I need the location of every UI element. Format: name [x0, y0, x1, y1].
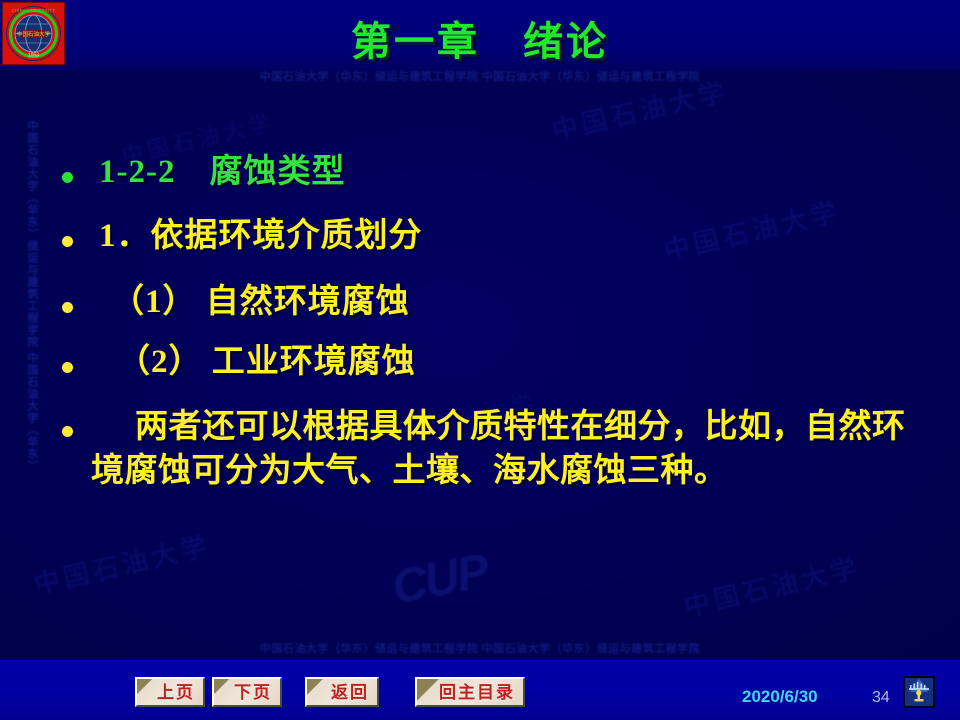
bullet-item-1-2: （2） 工业环境腐蚀 — [62, 342, 942, 383]
slide-date: 2020/6/30 — [742, 687, 818, 707]
bullet-dot-icon — [62, 362, 73, 373]
university-logo-icon: 中国石油大学 1953 CHINA UNIVERSITY — [3, 3, 64, 64]
bullet-item-heading: 1-2-2 腐蚀类型 — [62, 152, 942, 193]
prev-page-label: 上页 — [157, 684, 195, 701]
paragraph-text: 两者还可以根据具体介质特性在细分，比如，自然环境腐蚀可分为大气、土壤、海水腐蚀三… — [73, 406, 922, 493]
university-logo: 中国石油大学 1953 CHINA UNIVERSITY — [2, 2, 65, 65]
bullet-label: 1．依据环境介质划分 — [73, 216, 942, 257]
page-title: 第一章 绪论 — [0, 9, 960, 67]
prev-page-button[interactable]: 上页 — [135, 677, 205, 707]
bullet-item-1-1: （1） 自然环境腐蚀 — [62, 282, 942, 323]
bullet-label: （1） 自然环境腐蚀 — [73, 282, 942, 323]
back-button[interactable]: 返回 — [305, 677, 379, 707]
next-page-button[interactable]: 下页 — [212, 677, 282, 707]
main-menu-label: 回主目录 — [439, 684, 515, 701]
bullet-dot-icon — [62, 426, 73, 437]
school-emblem-graphic — [904, 677, 934, 707]
presentation-slide: 中国石油大学 中国石油大学 中国石油大学 中国石油大学 中国石油大学 中国石油大… — [0, 0, 960, 720]
bullet-label: 1-2-2 腐蚀类型 — [73, 152, 942, 193]
next-page-label: 下页 — [234, 684, 272, 701]
bullet-label: （2） 工业环境腐蚀 — [73, 342, 942, 383]
main-menu-button[interactable]: 回主目录 — [415, 677, 525, 707]
bullet-dot-icon — [62, 236, 73, 247]
school-emblem-icon — [903, 676, 935, 708]
slide-content: 1-2-2 腐蚀类型 1．依据环境介质划分 （1） 自然环境腐蚀 （2） 工业环… — [0, 70, 960, 640]
watermark-bottom-band: 中国石油大学（华东）储运与建筑工程学院 中国石油大学（华东）储运与建筑工程学院 — [0, 640, 960, 656]
back-label: 返回 — [331, 684, 369, 701]
slide-page-number: 34 — [872, 689, 890, 707]
bullet-dot-icon — [62, 172, 73, 183]
bullet-item-paragraph: 两者还可以根据具体介质特性在细分，比如，自然环境腐蚀可分为大气、土壤、海水腐蚀三… — [62, 406, 922, 493]
svg-text:CHINA UNIVERSITY: CHINA UNIVERSITY — [12, 8, 56, 13]
svg-text:中国石油大学: 中国石油大学 — [17, 30, 51, 38]
bullet-dot-icon — [62, 302, 73, 313]
slide-header: 第一章 绪论 — [0, 0, 960, 70]
bullet-item-1: 1．依据环境介质划分 — [62, 216, 942, 257]
svg-text:1953: 1953 — [28, 53, 39, 59]
